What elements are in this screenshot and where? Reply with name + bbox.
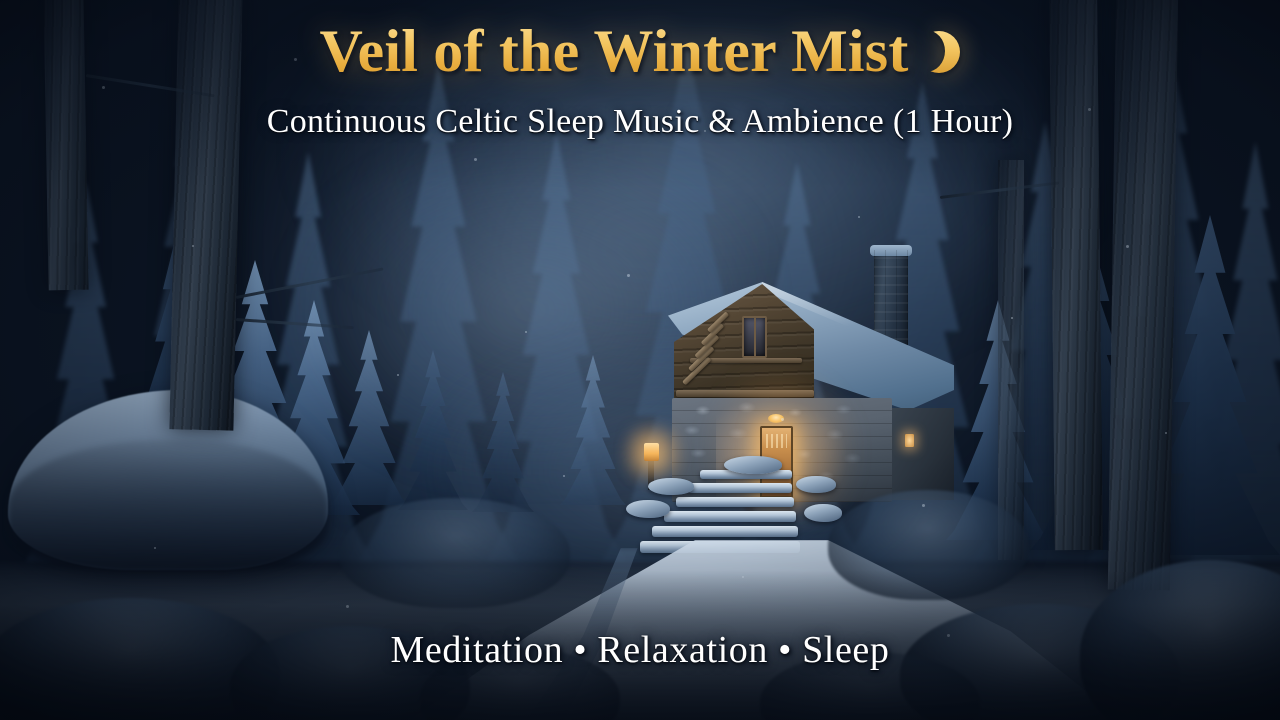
video-thumbnail: Veil of the Winter Mist <box>0 0 1280 720</box>
subtitle: Continuous Celtic Sleep Music & Ambience… <box>0 103 1280 141</box>
title-row: Veil of the Winter Mist <box>0 20 1280 82</box>
page-title: Veil of the Winter Mist <box>319 20 908 82</box>
tagline: Meditation • Relaxation • Sleep <box>0 628 1280 672</box>
text-overlay: Veil of the Winter Mist <box>0 0 1280 720</box>
crescent-moon-icon <box>917 25 961 79</box>
